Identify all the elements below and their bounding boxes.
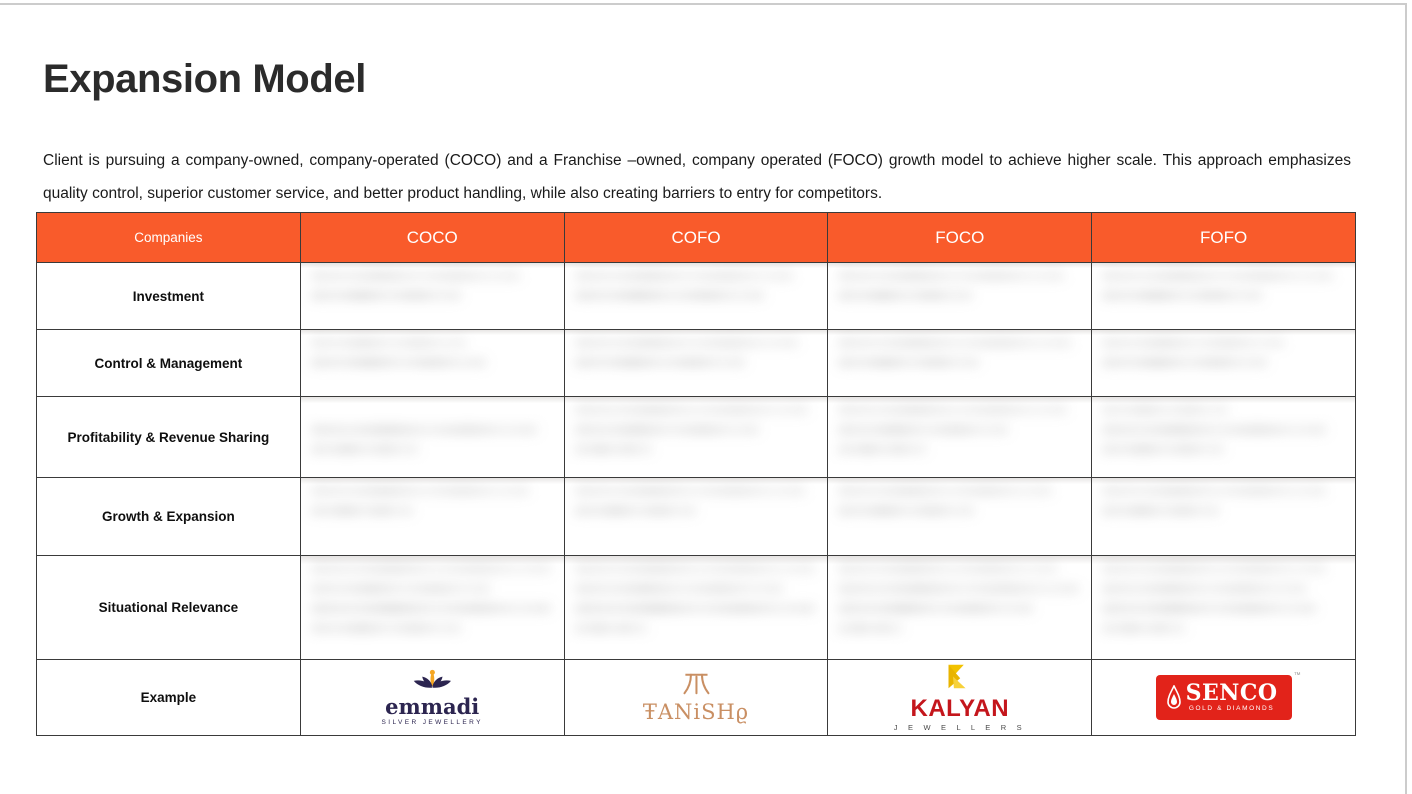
cell-control-cofo [564,330,828,397]
cell-growth-cofo [564,478,828,556]
logo-emmadi: emmadi SILVER JEWELLERY [382,669,483,727]
redacted-text-block [1092,263,1355,329]
redacted-text-block [1092,556,1355,659]
logo-kalyan-wordmark: KALYAN [894,697,1026,721]
cell-investment-foco [828,263,1092,330]
redacted-text-block [565,397,828,477]
redacted-text-block [565,556,828,659]
cell-investment-cofo [564,263,828,330]
redacted-text-block [828,478,1091,555]
table-row: Control & Management [37,330,1356,397]
cell-profitability-foco [828,397,1092,478]
redacted-text-block [301,330,564,396]
header-coco: COCO [300,213,564,263]
cell-situational-coco [300,556,564,660]
redacted-text-block [301,397,564,477]
page-frame-right-rule [1405,3,1407,794]
row-label-profitability-revenue: Profitability & Revenue Sharing [37,397,301,478]
redacted-text-block [1092,330,1355,396]
cell-profitability-cofo [564,397,828,478]
expansion-model-table: Companies COCO COFO FOCO FOFO Investment [36,212,1356,736]
redacted-text-block [828,556,1091,659]
header-foco: FOCO [828,213,1092,263]
senco-drop-icon [1166,685,1182,711]
table-header-row: Companies COCO COFO FOCO FOFO [37,213,1356,263]
kalyan-k-icon [944,663,975,690]
cell-situational-foco [828,556,1092,660]
logo-emmadi-wordmark: emmadi [382,696,483,717]
cell-investment-coco [300,263,564,330]
cell-profitability-fofo [1092,397,1356,478]
row-label-growth-expansion: Growth & Expansion [37,478,301,556]
lotus-icon [407,669,458,691]
redacted-text-block [828,330,1091,396]
redacted-text-block [1092,478,1355,555]
logo-senco-tagline: GOLD & DIAMONDS [1186,706,1278,713]
logo-tanishq-wordmark: ŦANiSHϱ [643,702,749,723]
logo-kalyan: KALYAN J E W E L L E R S [894,663,1026,732]
redacted-text-block [301,478,564,555]
logo-tanishq: ŦANiSHϱ [643,672,749,723]
intro-paragraph: Client is pursuing a company-owned, comp… [43,144,1351,210]
row-label-investment: Investment [37,263,301,330]
cell-situational-cofo [564,556,828,660]
cell-control-fofo [1092,330,1356,397]
row-label-situational-relevance: Situational Relevance [37,556,301,660]
header-companies: Companies [37,213,301,263]
cell-example-cofo: ŦANiSHϱ [564,660,828,736]
table-row: Situational Relevance [37,556,1356,660]
redacted-text-block [565,330,828,396]
table-row: Investment [37,263,1356,330]
row-label-example: Example [37,660,301,736]
page-frame-top-rule [0,3,1405,5]
document-page: Expansion Model Client is pursuing a com… [0,0,1412,794]
logo-kalyan-tagline: J E W E L L E R S [894,724,1026,732]
row-label-control-management: Control & Management [37,330,301,397]
cell-control-coco [300,330,564,397]
cell-investment-fofo [1092,263,1356,330]
logo-senco: SENCO GOLD & DIAMONDS ™ [1156,675,1292,720]
logo-senco-wordmark: SENCO [1186,682,1278,704]
redacted-text-block [301,263,564,329]
redacted-text-block [828,263,1091,329]
header-cofo: COFO [564,213,828,263]
header-fofo: FOFO [1092,213,1356,263]
cell-example-coco: emmadi SILVER JEWELLERY [300,660,564,736]
tanishq-monogram-icon [678,672,715,696]
redacted-text-block [565,478,828,555]
redacted-text-block [565,263,828,329]
redacted-text-block [828,397,1091,477]
cell-growth-fofo [1092,478,1356,556]
cell-growth-foco [828,478,1092,556]
cell-growth-coco [300,478,564,556]
logo-emmadi-tagline: SILVER JEWELLERY [382,720,483,727]
table-row: Growth & Expansion [37,478,1356,556]
redacted-text-block [301,556,564,659]
cell-situational-fofo [1092,556,1356,660]
cell-profitability-coco [300,397,564,478]
cell-example-fofo: SENCO GOLD & DIAMONDS ™ [1092,660,1356,736]
table-row: Profitability & Revenue Sharing [37,397,1356,478]
trademark-symbol: ™ [1294,672,1301,679]
cell-example-foco: KALYAN J E W E L L E R S [828,660,1092,736]
cell-control-foco [828,330,1092,397]
redacted-text-block [1092,397,1355,477]
table-row: Example emmadi [37,660,1356,736]
page-title: Expansion Model [43,57,366,101]
